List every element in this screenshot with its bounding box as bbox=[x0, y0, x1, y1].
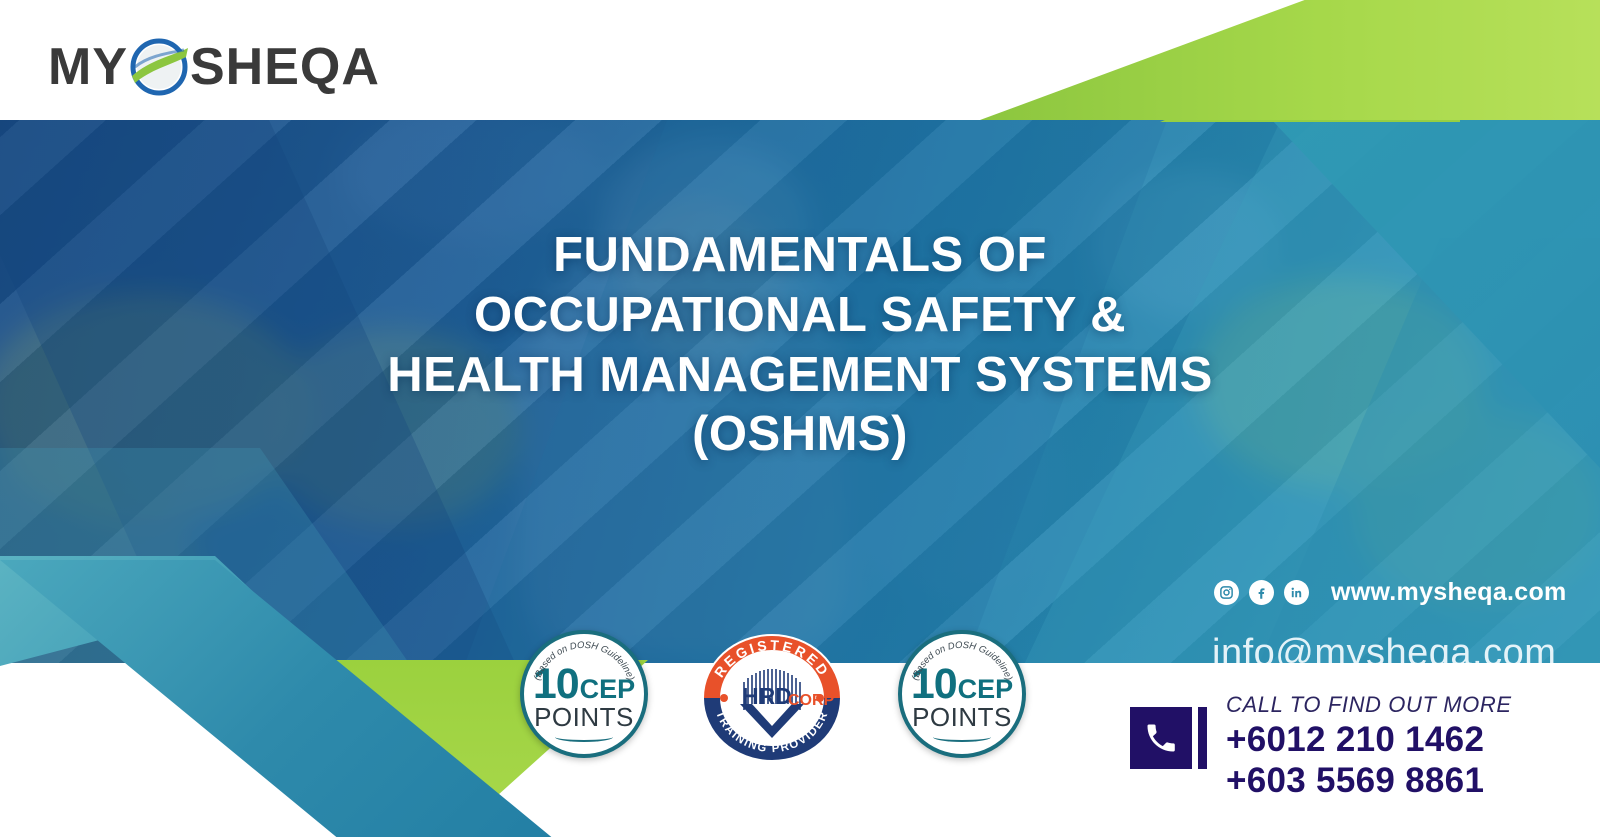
cep-number-right: 10 bbox=[911, 665, 957, 704]
brand-logo[interactable]: MY SHEQA bbox=[48, 36, 380, 98]
phone-text-group: CALL TO FIND OUT MORE +6012 210 1462 +60… bbox=[1226, 692, 1512, 801]
logo-text-sheqa: SHEQA bbox=[190, 41, 380, 93]
phone-number-1[interactable]: +6012 210 1462 bbox=[1226, 720, 1512, 761]
call-to-action-label: CALL TO FIND OUT MORE bbox=[1226, 692, 1512, 718]
cep-points-label-right: POINTS bbox=[912, 704, 1012, 730]
cep-points-badge-left: (Based on DOSH Guideline) 10 CEP POINTS bbox=[520, 630, 648, 758]
cep-underline-right bbox=[933, 732, 991, 742]
title-line-1: FUNDAMENTALS OF bbox=[0, 226, 1600, 286]
title-line-2: OCCUPATIONAL SAFETY & bbox=[0, 286, 1600, 346]
instagram-icon[interactable] bbox=[1214, 580, 1239, 605]
facebook-icon[interactable] bbox=[1249, 580, 1274, 605]
title-line-3: HEALTH MANAGEMENT SYSTEMS bbox=[0, 346, 1600, 406]
promo-poster: FUNDAMENTALS OF OCCUPATIONAL SAFETY & HE… bbox=[0, 0, 1600, 837]
cep-number-left: 10 bbox=[533, 665, 579, 704]
header-green-wedge bbox=[980, 0, 1600, 126]
globe-swoosh-icon bbox=[128, 36, 190, 98]
header-bar: MY SHEQA bbox=[0, 0, 1600, 120]
social-and-website: www.mysheqa.com bbox=[1214, 578, 1567, 607]
logo-text-my: MY bbox=[48, 41, 128, 93]
phone-number-2[interactable]: +603 5569 8861 bbox=[1226, 761, 1512, 802]
cep-points-badge-right: (Based on DOSH Guideline) 10 CEP POINTS bbox=[898, 630, 1026, 758]
title-line-4: (OSHMS) bbox=[0, 405, 1600, 465]
cep-unit-right: CEP bbox=[958, 677, 1014, 701]
contact-phone-block: CALL TO FIND OUT MORE +6012 210 1462 +60… bbox=[1130, 692, 1512, 801]
cep-unit-left: CEP bbox=[580, 677, 636, 701]
page-title: FUNDAMENTALS OF OCCUPATIONAL SAFETY & HE… bbox=[0, 226, 1600, 465]
cep-points-label-left: POINTS bbox=[534, 704, 634, 730]
email-address[interactable]: info@mysheqa.com bbox=[1212, 632, 1556, 663]
hrd-corp-registered-badge: REGISTERED TRAINING PROVIDER HRD CORP bbox=[700, 632, 844, 764]
hrd-brand-suffix: CORP bbox=[788, 692, 835, 709]
phone-handset-icon bbox=[1130, 707, 1192, 769]
cep-underline-left bbox=[555, 732, 613, 742]
linkedin-icon[interactable] bbox=[1284, 580, 1309, 605]
phone-icon-accent-bar bbox=[1198, 707, 1207, 769]
website-url[interactable]: www.mysheqa.com bbox=[1331, 578, 1567, 607]
hrd-brand-text: HRD bbox=[742, 683, 792, 709]
